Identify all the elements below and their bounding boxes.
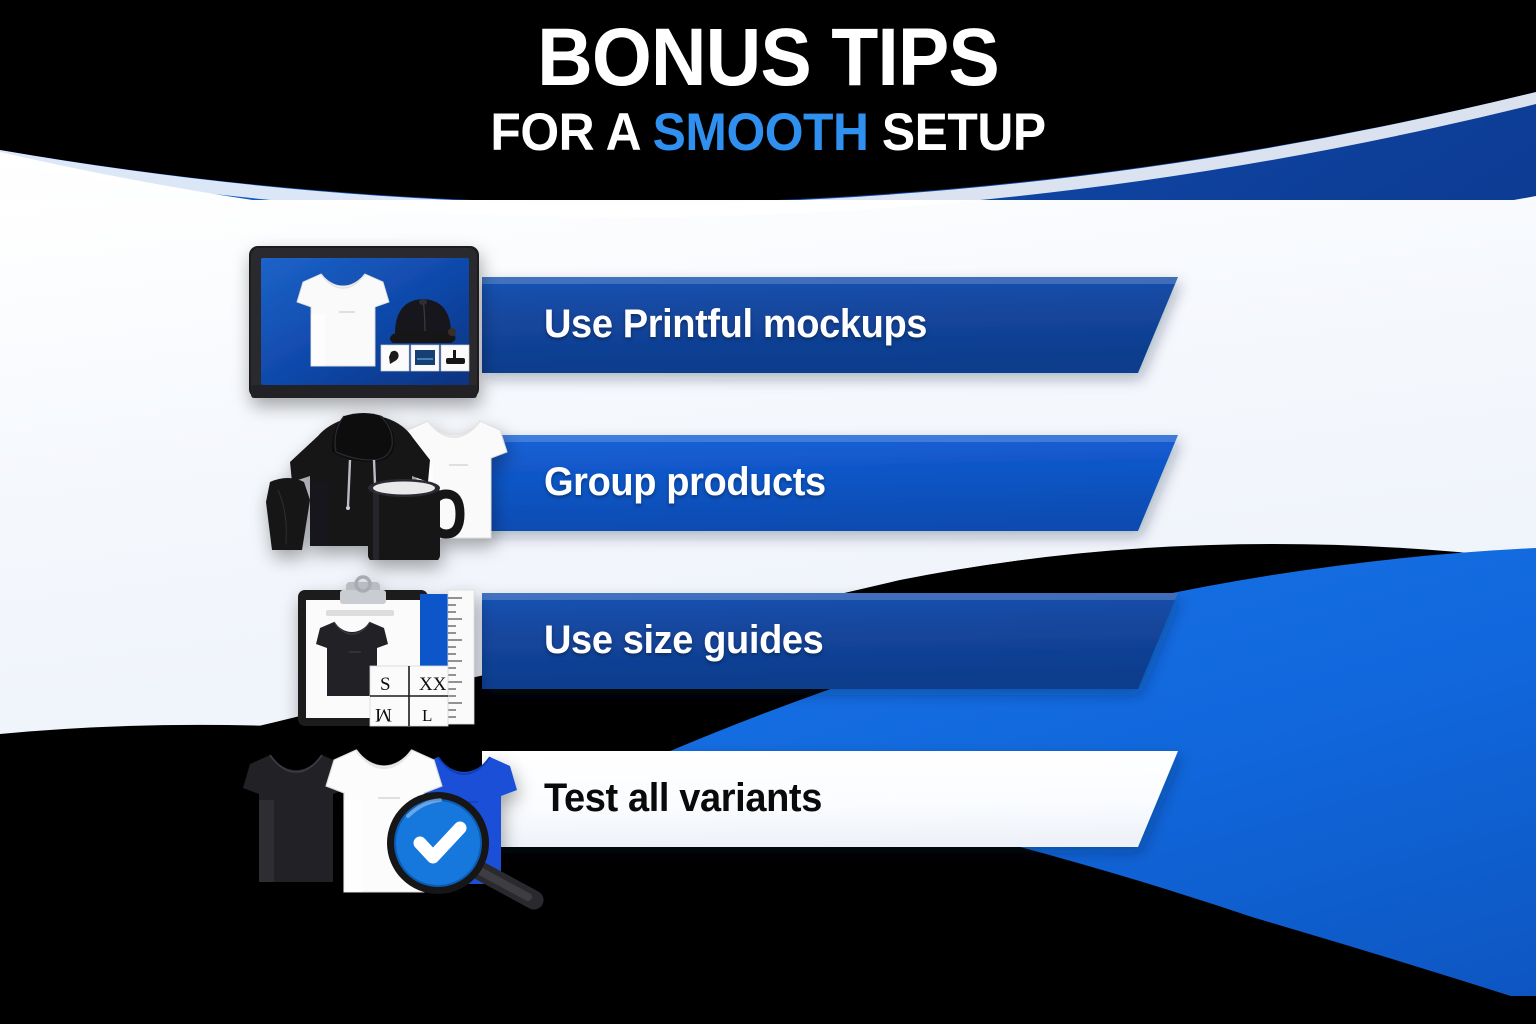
tip-banner-3[interactable]: Use size guides (478, 589, 1178, 691)
tip-row-3: Use size guides (0, 556, 1536, 726)
tip-banner-1[interactable]: Use Printful mockups (478, 273, 1178, 375)
size-cell-l: L (422, 706, 432, 725)
tip-row-2: Group products (0, 398, 1536, 568)
infographic-canvas: BONUS TIPS FOR A SMOOTH SETUP Use Printf… (0, 0, 1536, 1024)
tip-row-4: Test all variants (0, 714, 1536, 884)
size-cell-s: S (380, 674, 391, 695)
magnifier-check-icon (387, 792, 534, 900)
size-cell-xx: XX (419, 674, 447, 695)
artwork-tshirt-variants-check (232, 732, 592, 927)
size-cell-m: M (375, 704, 392, 725)
tip-banner-2[interactable]: Group products (478, 431, 1178, 533)
thumbnail-strip (381, 345, 469, 371)
tip-label-3: Use size guides (544, 589, 823, 691)
white-tshirt-icon (297, 274, 389, 366)
artwork-apparel-group (258, 390, 533, 565)
tip-label-1: Use Printful mockups (544, 273, 927, 375)
artwork-monitor-mockup-preview (247, 244, 483, 409)
ruler-icon (448, 590, 474, 724)
artwork-clipboard-size-chart: S XX M L (292, 574, 492, 739)
tip-row-1: Use Printful mockups (0, 240, 1536, 410)
tip-label-2: Group products (544, 431, 826, 533)
size-table: S XX M L (370, 666, 448, 726)
